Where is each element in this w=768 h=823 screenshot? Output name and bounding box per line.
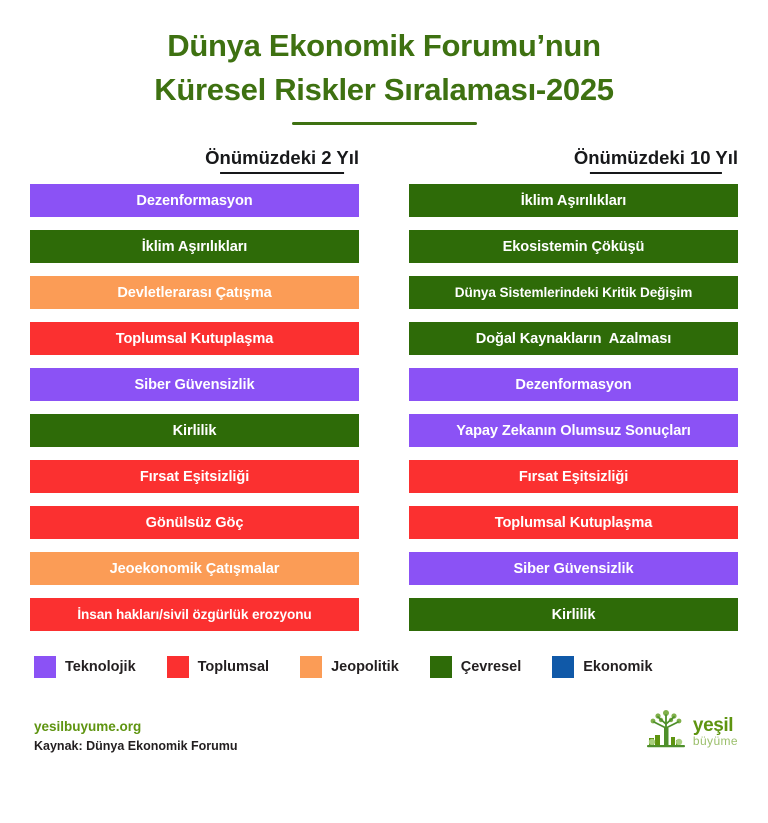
source-note: Kaynak: Dünya Ekonomik Forumu xyxy=(34,737,238,755)
risk-bar[interactable]: Siber Güvensizlik xyxy=(409,552,738,585)
risk-bar[interactable]: Fırsat Eşitsizliği xyxy=(30,460,359,493)
legend-swatch-icon xyxy=(300,656,322,678)
risk-bar[interactable]: Jeoekonomik Çatışmalar xyxy=(30,552,359,585)
legend-item-teknolojik[interactable]: Teknolojik xyxy=(34,656,136,678)
risk-bar[interactable]: İklim Aşırılıkları xyxy=(30,230,359,263)
footer-text-block: yesilbuyume.org Kaynak: Dünya Ekonomik F… xyxy=(34,717,238,755)
risk-bar[interactable]: Dezenformasyon xyxy=(409,368,738,401)
risk-bar[interactable]: Devletlerarası Çatışma xyxy=(30,276,359,309)
legend-item-ekonomik[interactable]: Ekonomik xyxy=(552,656,652,678)
risk-bar[interactable]: Dezenformasyon xyxy=(30,184,359,217)
logo-secondary-text: büyüme xyxy=(693,735,738,747)
yesil-buyume-logo[interactable]: yeşil büyüme xyxy=(643,708,738,755)
legend-label: Çevresel xyxy=(461,659,521,675)
column-2-years: Önümüzdeki 2 Yıl Dezenformasyon İklim Aş… xyxy=(30,147,359,631)
risk-bar[interactable]: Toplumsal Kutuplaşma xyxy=(30,322,359,355)
legend-item-toplumsal[interactable]: Toplumsal xyxy=(167,656,269,678)
page-title: Dünya Ekonomik Forumu’nun Küresel Riskle… xyxy=(0,0,768,125)
legend-label: Toplumsal xyxy=(198,659,269,675)
risk-bar[interactable]: İklim Aşırılıkları xyxy=(409,184,738,217)
legend-swatch-icon xyxy=(552,656,574,678)
legend-item-jeopolitik[interactable]: Jeopolitik xyxy=(300,656,399,678)
column-header-10-years: Önümüzdeki 10 Yıl xyxy=(574,147,738,174)
risk-bar[interactable]: Doğal Kaynakların Azalması xyxy=(409,322,738,355)
risk-list-2-years: Dezenformasyon İklim Aşırılıkları Devlet… xyxy=(30,184,359,631)
risk-bar[interactable]: Fırsat Eşitsizliği xyxy=(409,460,738,493)
risk-bar[interactable]: Gönülsüz Göç xyxy=(30,506,359,539)
legend-swatch-icon xyxy=(167,656,189,678)
risk-bar[interactable]: Yapay Zekanın Olumsuz Sonuçları xyxy=(409,414,738,447)
risk-bar[interactable]: Toplumsal Kutuplaşma xyxy=(409,506,738,539)
risk-columns: Önümüzdeki 2 Yıl Dezenformasyon İklim Aş… xyxy=(0,147,768,631)
legend: Teknolojik Toplumsal Jeopolitik Çevresel… xyxy=(0,656,768,678)
risk-bar[interactable]: Dünya Sistemlerindeki Kritik Değişim xyxy=(409,276,738,309)
title-underline xyxy=(292,122,477,125)
risk-bar[interactable]: Ekosistemin Çöküşü xyxy=(409,230,738,263)
legend-swatch-icon xyxy=(34,656,56,678)
risk-list-10-years: İklim Aşırılıkları Ekosistemin Çöküşü Dü… xyxy=(409,184,738,631)
legend-label: Jeopolitik xyxy=(331,659,399,675)
risk-bar[interactable]: Siber Güvensizlik xyxy=(30,368,359,401)
risk-bar[interactable]: Kirlilik xyxy=(30,414,359,447)
risk-bar[interactable]: İnsan hakları/sivil özgürlük erozyonu xyxy=(30,598,359,631)
legend-item-cevresel[interactable]: Çevresel xyxy=(430,656,521,678)
legend-label: Ekonomik xyxy=(583,659,652,675)
website-link[interactable]: yesilbuyume.org xyxy=(34,717,238,737)
legend-label: Teknolojik xyxy=(65,659,136,675)
column-10-years: Önümüzdeki 10 Yıl İklim Aşırılıkları Eko… xyxy=(409,147,738,631)
column-header-2-years: Önümüzdeki 2 Yıl xyxy=(205,147,359,174)
title-line-1: Dünya Ekonomik Forumu’nun xyxy=(0,24,768,68)
risk-bar[interactable]: Kirlilik xyxy=(409,598,738,631)
legend-swatch-icon xyxy=(430,656,452,678)
logo-wordmark: yeşil büyüme xyxy=(693,716,738,747)
tree-logo-icon xyxy=(643,708,689,755)
logo-primary-text: yeşil xyxy=(693,716,738,735)
title-line-2: Küresel Riskler Sıralaması-2025 xyxy=(0,68,768,112)
footer: yesilbuyume.org Kaynak: Dünya Ekonomik F… xyxy=(0,708,768,755)
